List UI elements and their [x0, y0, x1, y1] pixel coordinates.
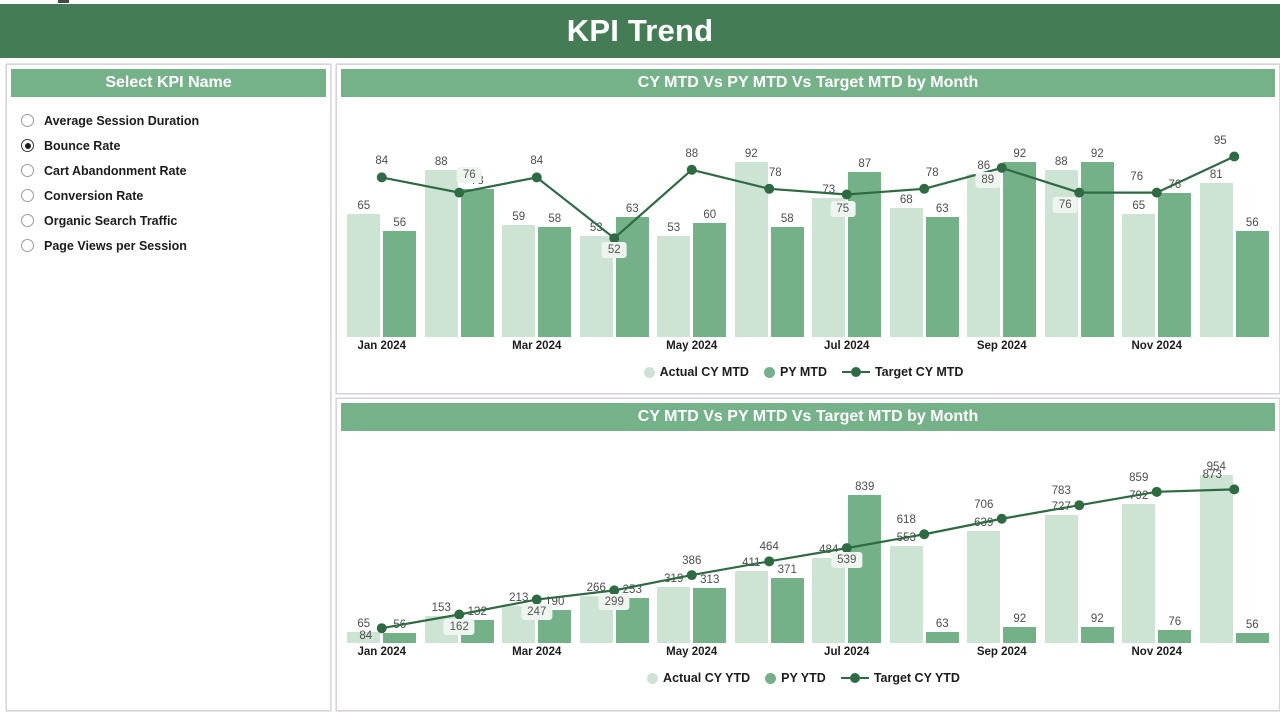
bar-actual-cy-ytd-4[interactable]	[657, 587, 690, 643]
target-label: 464	[760, 541, 779, 553]
bar-label: 73	[822, 184, 835, 196]
bar-label: 639	[974, 517, 993, 529]
bar-label: 68	[900, 194, 913, 206]
ytd-chart-header: CY MTD Vs PY MTD Vs Target MTD by Month	[341, 403, 1275, 431]
bar-label: 313	[700, 574, 719, 586]
bar-label: 59	[512, 211, 525, 223]
axis-tick-label: Mar 2024	[512, 340, 561, 352]
legend-swatch-icon	[764, 367, 775, 378]
bar-actual-cy-ytd-10[interactable]	[1122, 504, 1155, 643]
bar-actual-cy-mtd-1[interactable]	[425, 170, 458, 337]
legend-label: Target CY YTD	[874, 671, 960, 685]
legend-item-target-cy-mtd[interactable]: Target CY MTD	[842, 365, 963, 379]
page-title: KPI Trend	[567, 13, 714, 49]
bar-py-mtd-4[interactable]	[693, 223, 726, 337]
bar-label: 63	[936, 203, 949, 215]
bar-py-mtd-5[interactable]	[771, 227, 804, 337]
bar-label: 76	[1168, 616, 1181, 628]
bar-actual-cy-mtd-10[interactable]	[1122, 214, 1155, 338]
bar-label: 319	[664, 573, 683, 585]
radio-unselected-icon[interactable]	[21, 164, 34, 177]
target-label: 75	[830, 201, 855, 217]
legend-label: PY MTD	[780, 365, 827, 379]
bar-py-mtd-0[interactable]	[383, 231, 416, 337]
bar-label: 266	[587, 582, 606, 594]
legend-swatch-icon	[765, 673, 776, 684]
bar-actual-cy-ytd-5[interactable]	[735, 571, 768, 643]
radio-unselected-icon[interactable]	[21, 189, 34, 202]
bar-actual-cy-mtd-9[interactable]	[1045, 170, 1078, 337]
mtd-x-axis: Jan 2024Mar 2024May 2024Jul 2024Sep 2024…	[343, 337, 1273, 359]
legend-swatch-icon	[644, 367, 655, 378]
axis-tick-label: Mar 2024	[512, 646, 561, 658]
target-marker-9[interactable]	[1074, 500, 1084, 510]
bar-actual-cy-ytd-8[interactable]	[967, 531, 1000, 643]
kpi-option-label: Average Session Duration	[44, 114, 199, 128]
bar-actual-cy-ytd-11[interactable]	[1200, 475, 1233, 643]
bar-py-ytd-0[interactable]	[383, 633, 416, 643]
target-label: 84	[530, 155, 543, 167]
mtd-legend: Actual CY MTDPY MTDTarget CY MTD	[337, 359, 1279, 385]
target-label: 88	[685, 148, 698, 160]
legend-swatch-icon	[647, 673, 658, 684]
bar-py-mtd-8[interactable]	[1003, 162, 1036, 337]
radio-unselected-icon[interactable]	[21, 239, 34, 252]
axis-tick-label: Jan 2024	[357, 646, 406, 658]
target-label: 859	[1129, 472, 1148, 484]
bar-py-mtd-1[interactable]	[461, 189, 494, 337]
bar-label: 92	[1013, 148, 1026, 160]
ytd-x-axis: Jan 2024Mar 2024May 2024Jul 2024Sep 2024…	[343, 643, 1273, 665]
bar-label: 81	[1210, 169, 1223, 181]
legend-item-actual-cy-mtd[interactable]: Actual CY MTD	[644, 365, 749, 379]
bar-py-mtd-9[interactable]	[1081, 162, 1114, 337]
bar-py-mtd-10[interactable]	[1158, 193, 1191, 337]
target-label: 84	[359, 630, 372, 642]
bar-label: 371	[778, 564, 797, 576]
slicer-title: Select KPI Name	[105, 74, 231, 92]
window-marker	[58, 0, 69, 3]
bar-actual-cy-ytd-7[interactable]	[890, 546, 923, 643]
target-label: 706	[974, 499, 993, 511]
bar-label: 53	[590, 222, 603, 234]
legend-line-icon	[842, 367, 870, 377]
bar-py-ytd-6[interactable]	[848, 495, 881, 643]
kpi-radio-group: Average Session DurationBounce RateCart …	[7, 97, 330, 258]
kpi-option-label: Page Views per Session	[44, 239, 187, 253]
kpi-option-conversion-rate[interactable]: Conversion Rate	[21, 183, 330, 208]
legend-item-target-cy-ytd[interactable]: Target CY YTD	[841, 671, 960, 685]
target-marker-7[interactable]	[919, 529, 929, 539]
radio-unselected-icon[interactable]	[21, 114, 34, 127]
target-marker-11[interactable]	[1229, 152, 1239, 162]
bar-label: 92	[1091, 148, 1104, 160]
bar-label: 63	[936, 618, 949, 630]
legend-label: Actual CY MTD	[660, 365, 749, 379]
target-label: 299	[599, 594, 630, 610]
bar-label: 76	[1168, 179, 1181, 191]
target-label: 78	[926, 167, 939, 179]
bar-py-mtd-2[interactable]	[538, 227, 571, 337]
axis-tick-label: Sep 2024	[977, 340, 1027, 352]
target-label: 539	[831, 552, 862, 568]
bar-label: 87	[858, 158, 871, 170]
kpi-option-organic-search-traffic[interactable]: Organic Search Traffic	[21, 208, 330, 233]
axis-tick-label: Nov 2024	[1131, 646, 1182, 658]
kpi-slicer-panel: Select KPI Name Average Session Duration…	[6, 64, 331, 711]
bar-py-mtd-3[interactable]	[616, 217, 649, 337]
legend-label: Actual CY YTD	[663, 671, 750, 685]
target-marker-4[interactable]	[687, 570, 697, 580]
bar-py-ytd-5[interactable]	[771, 578, 804, 643]
axis-tick-label: May 2024	[666, 646, 717, 658]
axis-tick-label: Jan 2024	[357, 340, 406, 352]
kpi-option-average-session-duration[interactable]: Average Session Duration	[21, 108, 330, 133]
page-title-banner: KPI Trend	[0, 4, 1280, 58]
target-label: 52	[602, 242, 627, 258]
bar-py-ytd-11[interactable]	[1236, 633, 1269, 643]
bar-label: 60	[703, 209, 716, 221]
bar-label: 56	[393, 619, 406, 631]
target-label: 76	[457, 167, 482, 183]
bar-actual-cy-mtd-5[interactable]	[735, 162, 768, 337]
target-label: 873	[1203, 469, 1222, 481]
target-marker-8[interactable]	[997, 514, 1007, 524]
bar-label: 727	[1052, 501, 1071, 513]
target-label: 247	[521, 604, 552, 620]
axis-tick-label: Nov 2024	[1131, 340, 1182, 352]
bar-label: 213	[509, 592, 528, 604]
kpi-option-cart-abandonment-rate[interactable]: Cart Abandonment Rate	[21, 158, 330, 183]
bar-py-mtd-7[interactable]	[926, 217, 959, 337]
bar-actual-cy-mtd-0[interactable]	[347, 214, 380, 338]
ytd-chart-panel: CY MTD Vs PY MTD Vs Target MTD by Month …	[336, 398, 1280, 711]
bar-label: 86	[977, 160, 990, 172]
target-marker-4[interactable]	[687, 165, 697, 175]
legend-label: PY YTD	[781, 671, 826, 685]
axis-tick-label: May 2024	[666, 340, 717, 352]
bar-label: 88	[1055, 156, 1068, 168]
bar-label: 153	[432, 602, 451, 614]
legend-label: Target CY MTD	[875, 365, 963, 379]
bar-label: 56	[1246, 217, 1259, 229]
bar-label: 65	[1132, 200, 1145, 212]
target-label: 162	[444, 619, 475, 635]
bar-label: 553	[897, 532, 916, 544]
bar-label: 58	[548, 213, 561, 225]
mtd-plot-area: 6556887859585363536092587387686386928892…	[343, 97, 1273, 337]
bar-actual-cy-mtd-8[interactable]	[967, 174, 1000, 337]
bar-label: 56	[1246, 619, 1259, 631]
legend-item-actual-cy-ytd[interactable]: Actual CY YTD	[647, 671, 750, 685]
kpi-option-bounce-rate[interactable]: Bounce Rate	[21, 133, 330, 158]
bar-label: 92	[1013, 613, 1026, 625]
target-label: 76	[1053, 197, 1078, 213]
bar-label: 65	[357, 618, 370, 630]
kpi-option-label: Conversion Rate	[44, 189, 143, 203]
target-label: 78	[769, 167, 782, 179]
radio-unselected-icon[interactable]	[21, 214, 34, 227]
target-marker-5[interactable]	[764, 556, 774, 566]
axis-tick-label: Sep 2024	[977, 646, 1027, 658]
ytd-legend: Actual CY YTDPY YTDTarget CY YTD	[337, 665, 1279, 691]
target-label: 76	[1130, 171, 1143, 183]
target-label: 89	[975, 172, 1000, 188]
target-label: 386	[682, 555, 701, 567]
ytd-chart-title: CY MTD Vs PY MTD Vs Target MTD by Month	[638, 408, 978, 426]
bar-actual-cy-mtd-4[interactable]	[657, 236, 690, 337]
bar-py-ytd-10[interactable]	[1158, 630, 1191, 643]
bar-py-mtd-6[interactable]	[848, 172, 881, 337]
target-marker-10[interactable]	[1152, 487, 1162, 497]
bar-label: 88	[435, 156, 448, 168]
bar-actual-cy-mtd-6[interactable]	[812, 198, 845, 337]
bar-label: 56	[393, 217, 406, 229]
bar-py-ytd-9[interactable]	[1081, 627, 1114, 643]
bar-label: 58	[781, 213, 794, 225]
bar-label: 92	[1091, 613, 1104, 625]
target-label: 84	[375, 155, 388, 167]
bar-actual-cy-ytd-6[interactable]	[812, 558, 845, 643]
bar-actual-cy-ytd-9[interactable]	[1045, 515, 1078, 643]
target-label: 618	[897, 514, 916, 526]
bar-py-ytd-4[interactable]	[693, 588, 726, 643]
radio-selected-icon[interactable]	[21, 139, 34, 152]
mtd-chart-header: CY MTD Vs PY MTD Vs Target MTD by Month	[341, 69, 1275, 97]
legend-line-icon	[841, 673, 869, 683]
bar-label: 839	[855, 481, 874, 493]
target-marker-0[interactable]	[377, 172, 387, 182]
axis-tick-label: Jul 2024	[824, 340, 869, 352]
bar-py-mtd-11[interactable]	[1236, 231, 1269, 337]
bar-actual-cy-mtd-11[interactable]	[1200, 183, 1233, 337]
target-marker-7[interactable]	[919, 184, 929, 194]
legend-item-py-mtd[interactable]: PY MTD	[764, 365, 827, 379]
target-marker-2[interactable]	[532, 172, 542, 182]
mtd-chart-panel: CY MTD Vs PY MTD Vs Target MTD by Month …	[336, 64, 1280, 394]
bar-label: 792	[1129, 490, 1148, 502]
bar-label: 92	[745, 148, 758, 160]
ytd-plot-area: 6556153132213190266253319313411371484839…	[343, 431, 1273, 643]
bar-label: 53	[667, 222, 680, 234]
bar-label: 411	[742, 557, 760, 569]
bar-label: 63	[626, 203, 639, 215]
bar-py-ytd-8[interactable]	[1003, 627, 1036, 643]
legend-item-py-ytd[interactable]: PY YTD	[765, 671, 826, 685]
kpi-option-label: Bounce Rate	[44, 139, 120, 153]
bar-label: 132	[468, 606, 487, 618]
mtd-chart-title: CY MTD Vs PY MTD Vs Target MTD by Month	[638, 74, 978, 92]
bar-label: 65	[357, 200, 370, 212]
kpi-option-page-views-per-session[interactable]: Page Views per Session	[21, 233, 330, 258]
kpi-option-label: Cart Abandonment Rate	[44, 164, 187, 178]
target-label: 783	[1052, 485, 1071, 497]
bar-actual-cy-mtd-2[interactable]	[502, 225, 535, 337]
slicer-header: Select KPI Name	[11, 69, 326, 97]
target-label: 95	[1214, 135, 1227, 147]
bar-actual-cy-mtd-7[interactable]	[890, 208, 923, 337]
bar-py-ytd-7[interactable]	[926, 632, 959, 643]
kpi-option-label: Organic Search Traffic	[44, 214, 177, 228]
axis-tick-label: Jul 2024	[824, 646, 869, 658]
